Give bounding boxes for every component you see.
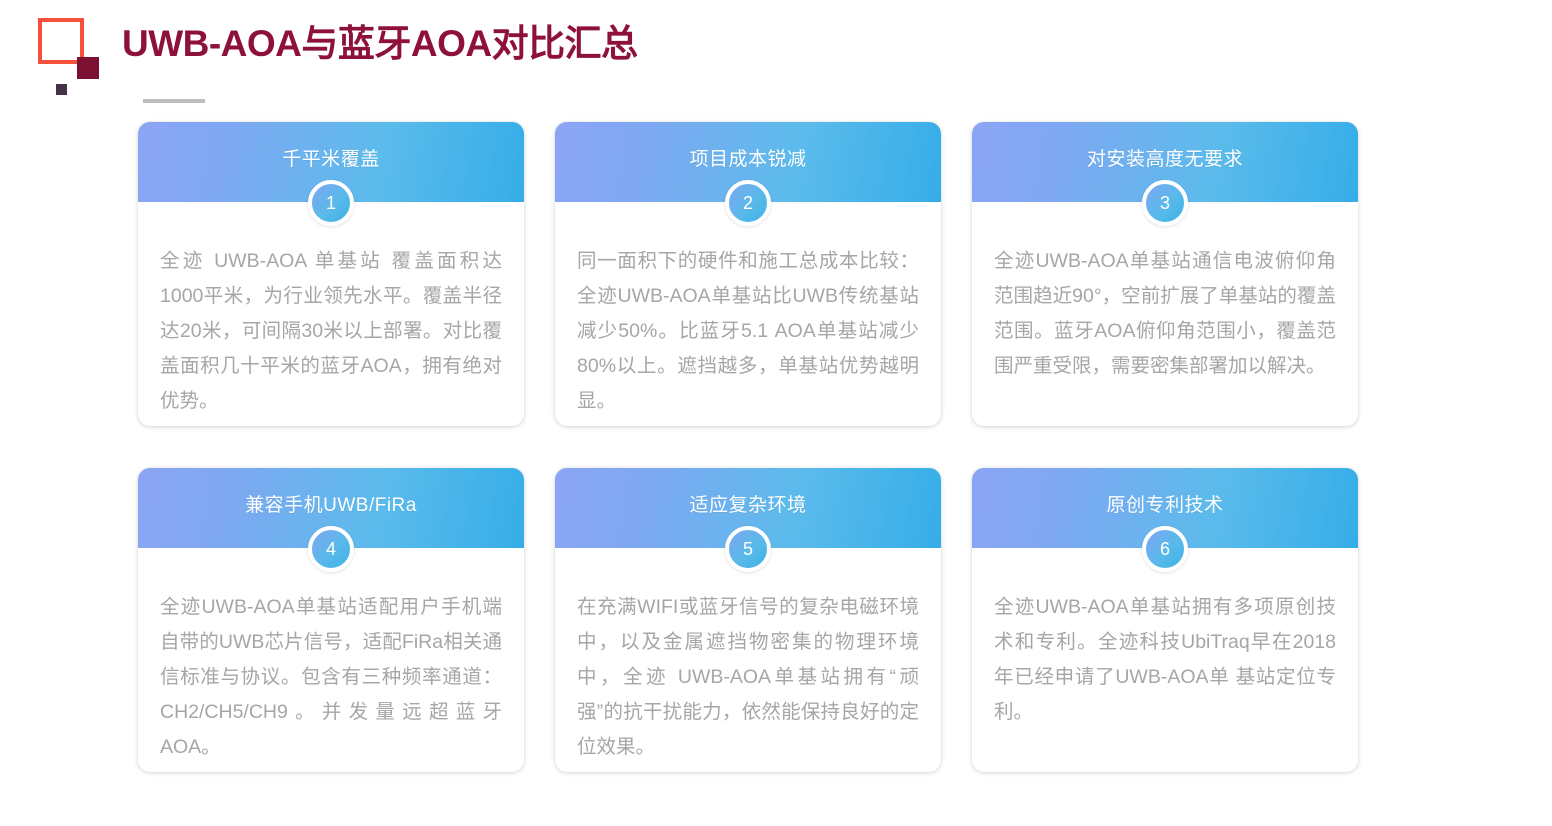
card-number-badge: 1 — [308, 180, 354, 226]
card-number-badge: 2 — [725, 180, 771, 226]
card-title: 原创专利技术 — [1106, 490, 1223, 517]
card-number: 3 — [1160, 194, 1170, 212]
decoration-block-large-icon — [77, 57, 99, 79]
feature-card[interactable]: 兼容手机UWB/FiRa 4 全迹UWB-AOA单基站适配用户手机端自带的UWB… — [138, 468, 524, 772]
feature-card[interactable]: 千平米覆盖 1 全迹 UWB-AOA 单基站 覆盖面积达1000平米，为行业领先… — [138, 122, 524, 426]
card-number: 4 — [326, 540, 336, 558]
card-title: 兼容手机UWB/FiRa — [245, 490, 417, 517]
card-body: 全迹 UWB-AOA 单基站 覆盖面积达1000平米，为行业领先水平。覆盖半径达… — [138, 202, 524, 437]
card-title: 适应复杂环境 — [689, 490, 806, 517]
card-description: 全迹UWB-AOA单基站适配用户手机端自带的UWB芯片信号，适配FiRa相关通信… — [160, 590, 502, 765]
card-body: 全迹UWB-AOA单基站通信电波俯仰角范围趋近90°，空前扩展了单基站的覆盖范围… — [972, 202, 1358, 402]
page-header: UWB-AOA与蓝牙AOA对比汇总 — [0, 0, 1552, 110]
card-description: 全迹UWB-AOA单基站通信电波俯仰角范围趋近90°，空前扩展了单基站的覆盖范围… — [994, 244, 1336, 384]
feature-card-grid: 千平米覆盖 1 全迹 UWB-AOA 单基站 覆盖面积达1000平米，为行业领先… — [138, 122, 1358, 772]
feature-card[interactable]: 适应复杂环境 5 在充满WIFI或蓝牙信号的复杂电磁环境中，以及金属遮挡物密集的… — [555, 468, 941, 772]
card-number: 5 — [743, 540, 753, 558]
decoration-mark — [38, 18, 98, 88]
page-title: UWB-AOA与蓝牙AOA对比汇总 — [122, 18, 638, 70]
card-number: 2 — [743, 194, 753, 212]
card-number-badge: 6 — [1142, 526, 1188, 572]
card-number-badge: 4 — [308, 526, 354, 572]
card-description: 同一面积下的硬件和施工总成本比较：全迹UWB-AOA单基站比UWB传统基站减少5… — [577, 244, 919, 419]
card-title: 对安装高度无要求 — [1087, 144, 1243, 171]
title-underline — [143, 99, 205, 103]
card-number-badge: 3 — [1142, 180, 1188, 226]
feature-card[interactable]: 原创专利技术 6 全迹UWB-AOA单基站拥有多项原创技术和专利。全迹科技Ubi… — [972, 468, 1358, 772]
card-title: 项目成本锐减 — [689, 144, 806, 171]
decoration-block-small-icon — [56, 84, 67, 95]
card-body: 全迹UWB-AOA单基站适配用户手机端自带的UWB芯片信号，适配FiRa相关通信… — [138, 548, 524, 783]
card-number: 6 — [1160, 540, 1170, 558]
card-number: 1 — [326, 194, 336, 212]
card-description: 全迹 UWB-AOA 单基站 覆盖面积达1000平米，为行业领先水平。覆盖半径达… — [160, 244, 502, 419]
card-description: 在充满WIFI或蓝牙信号的复杂电磁环境中，以及金属遮挡物密集的物理环境中，全迹 … — [577, 590, 919, 765]
card-number-badge: 5 — [725, 526, 771, 572]
feature-card[interactable]: 对安装高度无要求 3 全迹UWB-AOA单基站通信电波俯仰角范围趋近90°，空前… — [972, 122, 1358, 426]
card-body: 在充满WIFI或蓝牙信号的复杂电磁环境中，以及金属遮挡物密集的物理环境中，全迹 … — [555, 548, 941, 783]
card-body: 同一面积下的硬件和施工总成本比较：全迹UWB-AOA单基站比UWB传统基站减少5… — [555, 202, 941, 437]
card-description: 全迹UWB-AOA单基站拥有多项原创技术和专利。全迹科技UbiTraq早在201… — [994, 590, 1336, 730]
feature-card[interactable]: 项目成本锐减 2 同一面积下的硬件和施工总成本比较：全迹UWB-AOA单基站比U… — [555, 122, 941, 426]
card-title: 千平米覆盖 — [282, 144, 380, 171]
card-body: 全迹UWB-AOA单基站拥有多项原创技术和专利。全迹科技UbiTraq早在201… — [972, 548, 1358, 748]
